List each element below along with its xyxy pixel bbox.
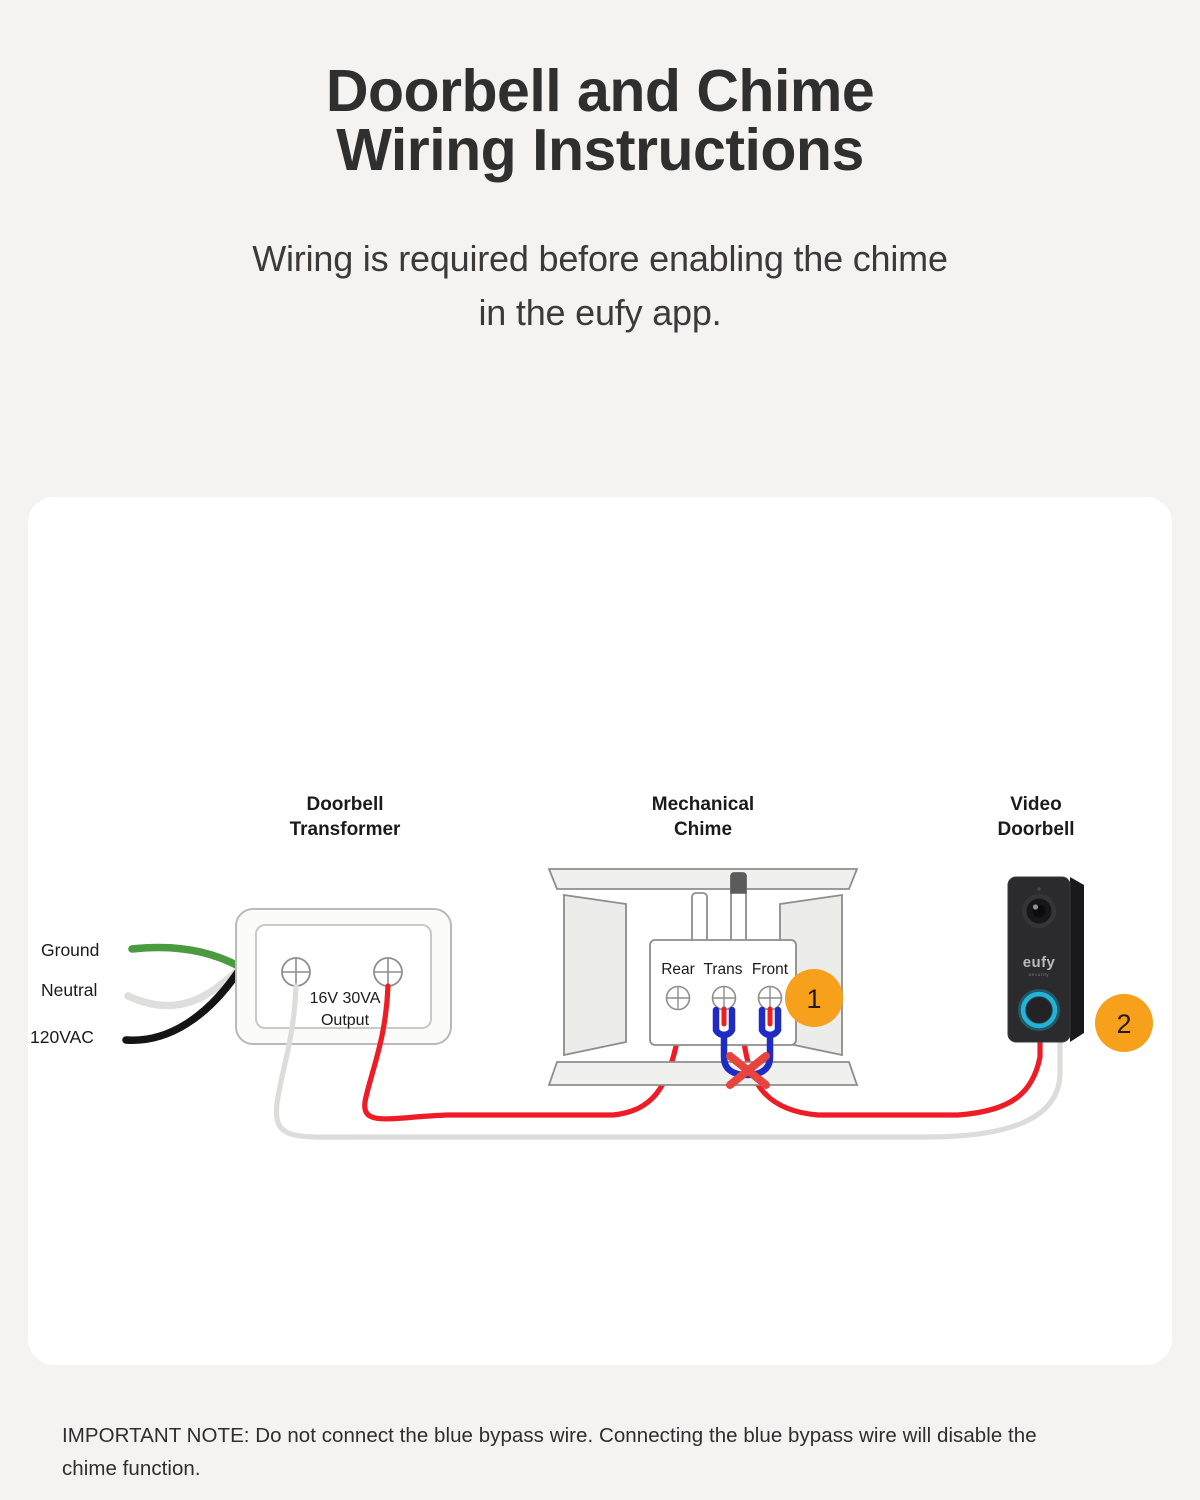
doorbell-button[interactable] [1022, 993, 1056, 1027]
chime-terminal-label-front: Front [752, 961, 789, 978]
badge-2[interactable]: 2 [1095, 994, 1153, 1052]
doorbell-side-face [1070, 877, 1084, 1042]
page-title-line-2: Wiring Instructions [336, 117, 864, 183]
label-neutral: Neutral [41, 980, 97, 1000]
page-subtitle: Wiring is required before enabling the c… [135, 232, 1065, 340]
transformer-terminal-left [282, 958, 310, 986]
transformer-rating-line-1: 16V 30VA [310, 990, 381, 1007]
camera-lens-icon [1022, 894, 1056, 928]
chime-bottom-rail [549, 1062, 857, 1085]
microphone-icon [1037, 887, 1040, 890]
chime-top-rail [549, 869, 857, 889]
chime-terminal-screw-front [759, 987, 782, 1010]
page-title-line-1: Doorbell and Chime [326, 58, 874, 124]
chime-terminal-label-trans: Trans [703, 961, 742, 978]
page-header: Doorbell and Chime Wiring Instructions W… [0, 0, 1200, 340]
chime-plunger-left [692, 893, 707, 943]
heading-transformer-line-1: Doorbell [306, 794, 383, 815]
page-subtitle-line-1: Wiring is required before enabling the c… [252, 238, 948, 279]
badge-1[interactable]: 1 [785, 969, 843, 1027]
important-note: IMPORTANT NOTE: Do not connect the blue … [62, 1419, 1092, 1485]
eufy-wordmark: eufy [1023, 954, 1056, 971]
label-ground: Ground [41, 940, 99, 960]
chime-tone-bar-left [564, 895, 626, 1055]
doorbell-transformer: 16V 30VA Output [236, 909, 451, 1044]
transformer-terminal-right [374, 958, 402, 986]
eufy-subbrand: security [1029, 972, 1050, 977]
transformer-rating-line-2: Output [321, 1012, 370, 1029]
video-doorbell-device: eufy security [1008, 877, 1084, 1042]
wire-ground [132, 948, 240, 967]
page-subtitle-line-2: in the eufy app. [479, 292, 722, 333]
chime-terminal-screw-trans [713, 987, 736, 1010]
heading-chime-line-2: Chime [674, 819, 732, 840]
heading-doorbell-line-2: Doorbell [997, 819, 1074, 840]
page-title: Doorbell and Chime Wiring Instructions [190, 62, 1010, 180]
chime-terminal-label-rear: Rear [661, 961, 695, 978]
label-120vac: 120VAC [30, 1027, 94, 1047]
heading-doorbell-line-1: Video [1010, 794, 1061, 815]
chime-plunger-cap [731, 873, 746, 893]
badge-2-number: 2 [1116, 1009, 1131, 1039]
heading-transformer-line-2: Transformer [290, 819, 401, 840]
wiring-diagram: Doorbell Transformer Mechanical Chime Vi… [28, 497, 1172, 1365]
badge-1-number: 1 [806, 984, 821, 1014]
chime-terminal-screw-rear [667, 987, 690, 1010]
diagram-card: Doorbell Transformer Mechanical Chime Vi… [28, 497, 1172, 1365]
page-root: Doorbell and Chime Wiring Instructions W… [0, 0, 1200, 1500]
heading-chime-line-1: Mechanical [652, 794, 754, 815]
